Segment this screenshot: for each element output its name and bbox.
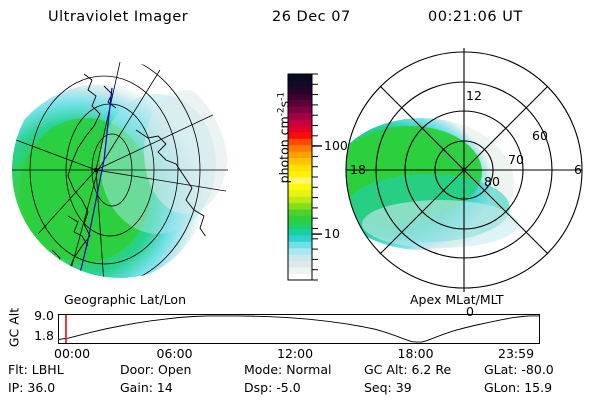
- colorbar-swatch: [288, 216, 312, 223]
- colorbar-swatch: [288, 254, 312, 261]
- status-field: Flt: LBHL: [8, 362, 64, 377]
- orbit-time-tick-label: 00:00: [54, 346, 90, 361]
- status-field: Dsp: -5.0: [244, 380, 301, 395]
- colorbar-swatch: [288, 119, 312, 126]
- colorbar-swatch: [288, 151, 312, 158]
- status-field-label: GLat:: [484, 362, 517, 377]
- header-bar: Ultraviolet Imager 26 Dec 07 00:21:06 UT: [0, 4, 600, 30]
- mlt-plot-svg: [336, 44, 592, 292]
- status-field-label: Seq:: [364, 380, 392, 395]
- orbit-time-tick-label: 12:00: [277, 346, 313, 361]
- colorbar-swatch: [288, 274, 312, 281]
- colorbar-unit-mid: s: [277, 101, 292, 108]
- colorbar-swatch: [288, 93, 312, 100]
- orbit-time-tick-label: 18:00: [398, 346, 434, 361]
- status-field: GLon: 15.9: [484, 380, 552, 395]
- colorbar-swatch: [288, 235, 312, 242]
- status-field: IP: 36.0: [8, 380, 55, 395]
- colorbar-panel: photon cm-2s-1 10010: [250, 44, 336, 292]
- geographic-plot-svg: [8, 44, 248, 292]
- colorbar-swatch: [288, 248, 312, 255]
- mlt-radial-spokes: [346, 48, 582, 292]
- colorbar-swatch: [288, 203, 312, 210]
- status-field: GLat: -80.0: [484, 362, 554, 377]
- orbit-ytick-top: 9.0: [16, 308, 54, 323]
- orbit-plot-box[interactable]: [58, 314, 540, 344]
- mlt-panel-subtitle: Apex MLat/MLT: [410, 292, 504, 307]
- colorbar-swatch: [288, 190, 312, 197]
- colorbar-unit-main: photon cm: [277, 116, 292, 183]
- geographic-panel-subtitle: Geographic Lat/Lon: [64, 292, 186, 307]
- status-field-label: Flt:: [8, 362, 28, 377]
- colorbar-swatch: [288, 132, 312, 139]
- mlt-label-18: 18: [350, 162, 366, 177]
- colorbar-swatch: [288, 171, 312, 178]
- colorbar-swatch: [288, 113, 312, 120]
- status-field: GC Alt: 6.2 Re: [364, 362, 451, 377]
- status-field-label: Dsp:: [244, 380, 272, 395]
- colorbar-swatch: [288, 138, 312, 145]
- colorbar-swatch: [288, 241, 312, 248]
- status-field: Gain: 14: [120, 380, 173, 395]
- colorbar-swatch: [288, 164, 312, 171]
- status-field-value: 14: [153, 380, 173, 395]
- colorbar-swatch: [288, 261, 312, 268]
- status-field: Mode: Normal: [244, 362, 331, 377]
- instrument-title: Ultraviolet Imager: [48, 9, 188, 25]
- colorbar-swatch: [288, 106, 312, 113]
- orbit-ytick-bottom: 1.8: [16, 328, 54, 343]
- mlat-ring-label-60: 60: [532, 128, 548, 143]
- orbit-time-tick-label: 23:59: [498, 346, 534, 361]
- colorbar-svg: [250, 44, 336, 292]
- status-block: Flt: LBHLDoor: OpenMode: NormalGC Alt: 6…: [0, 360, 600, 400]
- colorbar-swatch: [288, 80, 312, 87]
- status-field-label: Mode:: [244, 362, 282, 377]
- colorbar-swatch: [288, 158, 312, 165]
- colorbar-swatch: [288, 209, 312, 216]
- orbit-altitude-strip[interactable]: GC Alt 9.0 1.8 00:0006:0012:0018:0023:59: [0, 306, 600, 356]
- colorbar-swatch: [288, 183, 312, 190]
- mlt-label-6: 6: [574, 162, 582, 177]
- mlat-ring-label-80: 80: [484, 174, 500, 189]
- colorbar-swatch: [288, 145, 312, 152]
- colorbar-swatch: [288, 100, 312, 107]
- status-field-label: Door:: [120, 362, 154, 377]
- status-field-value: -80.0: [517, 362, 553, 377]
- status-field-value: LBHL: [28, 362, 64, 377]
- mlt-label-12: 12: [466, 88, 482, 103]
- status-field-value: -5.0: [272, 380, 300, 395]
- orbit-plot-svg: [59, 315, 539, 343]
- colorbar-swatch: [288, 177, 312, 184]
- colorbar-swatch: [288, 267, 312, 274]
- status-field-value: Normal: [282, 362, 331, 377]
- pole-marker: [94, 168, 98, 172]
- observation-time: 00:21:06 UT: [428, 9, 523, 25]
- colorbar-swatch: [288, 196, 312, 203]
- status-field-value: 39: [392, 380, 412, 395]
- colorbar-swatch: [288, 222, 312, 229]
- status-field-label: IP:: [8, 380, 23, 395]
- observation-date: 26 Dec 07: [272, 9, 351, 25]
- mlat-ring-label-70: 70: [508, 152, 524, 167]
- orbit-time-tick-label: 06:00: [157, 346, 193, 361]
- status-field-label: Gain:: [120, 380, 153, 395]
- status-field: Door: Open: [120, 362, 191, 377]
- colorbar-swatch: [288, 229, 312, 236]
- aurora-emission-overlay: [8, 84, 228, 284]
- orbit-altitude-curve: [59, 316, 539, 342]
- colorbar-swatch: [288, 87, 312, 94]
- status-field-label: GLon:: [484, 380, 520, 395]
- status-field-value: Open: [154, 362, 191, 377]
- status-field-value: 15.9: [520, 380, 552, 395]
- colorbar-unit-exp2: -1: [276, 92, 286, 101]
- colorbar-unit-exp1: -2: [276, 107, 286, 116]
- status-field-value: 36.0: [23, 380, 55, 395]
- status-field-value: 6.2 Re: [408, 362, 452, 377]
- status-field-label: GC Alt:: [364, 362, 408, 377]
- colorbar-gradient: [288, 74, 312, 280]
- colorbar-ticks: [312, 74, 322, 280]
- colorbar-swatch: [288, 126, 312, 133]
- status-field: Seq: 39: [364, 380, 412, 395]
- mlt-dial-panel[interactable]: 126018607080: [336, 44, 592, 292]
- colorbar-swatch: [288, 74, 312, 81]
- colorbar-axis-label: photon cm-2s-1: [276, 58, 291, 218]
- geographic-image-panel[interactable]: [8, 44, 248, 292]
